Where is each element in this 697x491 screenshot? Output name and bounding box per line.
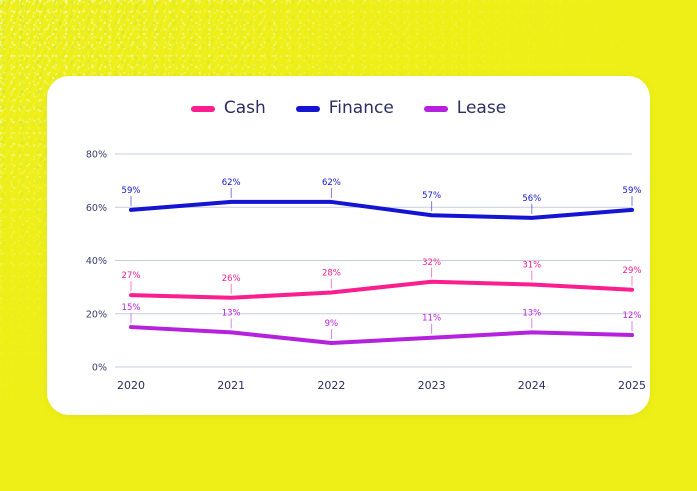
data-label-finance-2022: 62%: [322, 178, 341, 188]
x-axis-tick-label: 2021: [217, 379, 245, 392]
data-label-cash-2024: 31%: [522, 260, 541, 270]
y-axis-tick-label: 20%: [86, 309, 107, 320]
legend-label-cash: Cash: [224, 100, 266, 117]
data-label-finance-2025: 59%: [623, 186, 642, 196]
x-axis-tick-labels: 202020212022202320242025: [117, 379, 646, 392]
data-label-finance-2021: 62%: [222, 178, 241, 188]
chart-card: Cash Finance Lease 0%20%40%60%80% 27%26%…: [47, 76, 650, 415]
legend-swatch-lease: [424, 106, 448, 112]
data-label-lease-2020: 15%: [122, 303, 141, 313]
x-axis-tick-label: 2025: [618, 379, 646, 392]
data-label-lease-2023: 11%: [422, 314, 441, 324]
chart-legend: Cash Finance Lease: [47, 100, 650, 117]
data-label-lease-2025: 12%: [623, 311, 642, 321]
data-point-labels: 27%26%28%32%31%29%59%62%62%57%56%59%15%1…: [122, 178, 642, 339]
x-axis-tick-label: 2024: [518, 379, 546, 392]
data-label-lease-2022: 9%: [325, 319, 339, 329]
legend-item-lease[interactable]: Lease: [424, 100, 506, 117]
data-label-finance-2024: 56%: [522, 194, 541, 204]
series-line-cash: [131, 282, 632, 298]
y-axis-tick-label: 40%: [86, 256, 107, 267]
x-axis-tick-label: 2023: [418, 379, 446, 392]
data-label-lease-2021: 13%: [222, 308, 241, 318]
legend-item-finance[interactable]: Finance: [296, 100, 394, 117]
y-axis-tick-label: 80%: [86, 150, 107, 161]
data-label-lease-2024: 13%: [522, 308, 541, 318]
legend-label-lease: Lease: [457, 100, 506, 117]
series-line-finance: [131, 202, 632, 218]
line-chart-svg: 0%20%40%60%80% 27%26%28%32%31%29%59%62%6…: [47, 136, 650, 415]
data-label-cash-2021: 26%: [222, 274, 241, 284]
data-label-cash-2025: 29%: [623, 266, 642, 276]
y-axis-tick-labels: 0%20%40%60%80%: [86, 150, 107, 374]
x-axis-tick-label: 2020: [117, 379, 145, 392]
x-axis-tick-label: 2022: [317, 379, 345, 392]
legend-swatch-finance: [296, 106, 320, 112]
y-axis-tick-label: 0%: [92, 363, 107, 374]
data-label-cash-2020: 27%: [122, 271, 141, 281]
page-root: Cash Finance Lease 0%20%40%60%80% 27%26%…: [0, 0, 697, 491]
series-line-lease: [131, 327, 632, 343]
y-axis-tick-label: 60%: [86, 203, 107, 214]
data-label-cash-2023: 32%: [422, 258, 441, 268]
grid-lines: [115, 154, 632, 367]
data-label-finance-2020: 59%: [122, 186, 141, 196]
series-lines: [131, 202, 632, 343]
data-label-finance-2023: 57%: [422, 191, 441, 201]
plot-area: 0%20%40%60%80% 27%26%28%32%31%29%59%62%6…: [47, 136, 650, 415]
data-label-cash-2022: 28%: [322, 268, 341, 278]
legend-label-finance: Finance: [329, 100, 394, 117]
legend-swatch-cash: [191, 106, 215, 112]
legend-item-cash[interactable]: Cash: [191, 100, 266, 117]
